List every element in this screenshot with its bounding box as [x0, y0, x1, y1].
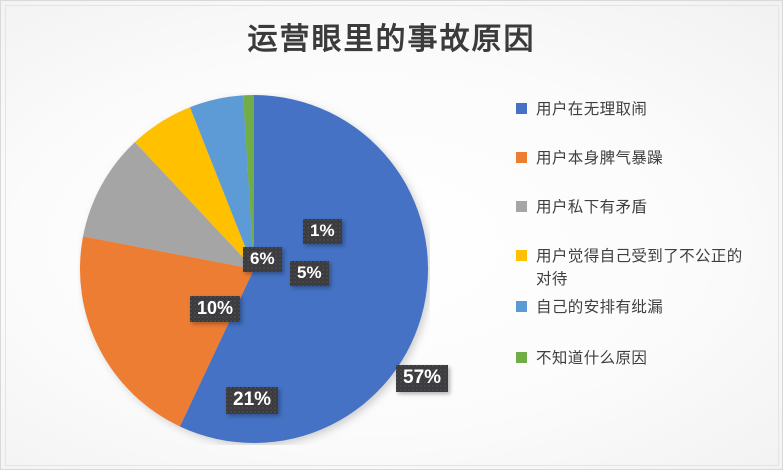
pie-data-label-2: 10%	[190, 296, 240, 322]
pie-data-label-0: 57%	[396, 365, 448, 392]
legend-item-own-arrangement-flaw[interactable]: 自己的安排有纰漏	[516, 296, 766, 319]
pie-data-label-5: 1%	[303, 219, 342, 244]
legend-item-user-unreasonable[interactable]: 用户在无理取闹	[516, 98, 766, 121]
legend-label-3: 用户觉得自己受到了不公正的对待	[536, 245, 751, 291]
legend-item-user-private-conflict[interactable]: 用户私下有矛盾	[516, 196, 766, 219]
legend-label-5: 不知道什么原因	[536, 347, 647, 370]
legend-label-0: 用户在无理取闹	[536, 98, 647, 121]
legend-item-unknown-reason[interactable]: 不知道什么原因	[516, 347, 766, 370]
legend-item-user-bad-temper[interactable]: 用户本身脾气暴躁	[516, 147, 766, 170]
legend-item-user-feels-unfair[interactable]: 用户觉得自己受到了不公正的对待	[516, 245, 766, 291]
legend-swatch-icon-5	[516, 352, 527, 363]
legend-label-2: 用户私下有矛盾	[536, 196, 647, 219]
legend-swatch-icon-0	[516, 103, 527, 114]
legend-swatch-icon-2	[516, 201, 527, 212]
legend-swatch-icon-1	[516, 152, 527, 163]
pie-data-label-3: 6%	[243, 247, 282, 272]
legend-label-1: 用户本身脾气暴躁	[536, 147, 663, 170]
chart-title: 运营眼里的事故原因	[0, 14, 783, 58]
pie-chart-plot-area: 57% 21% 10% 6% 5% 1%	[78, 93, 430, 445]
chart-legend: 用户在无理取闹 用户本身脾气暴躁 用户私下有矛盾 用户觉得自己受到了不公正的对待…	[516, 98, 766, 370]
legend-swatch-icon-4	[516, 301, 527, 312]
pie-data-label-4: 5%	[290, 261, 329, 286]
legend-label-4: 自己的安排有纰漏	[536, 296, 663, 319]
legend-swatch-icon-3	[516, 250, 527, 261]
pie-data-label-1: 21%	[226, 387, 278, 414]
chart-canvas: 运营眼里的事故原因 57% 21% 10% 6% 5% 1%	[0, 0, 783, 470]
